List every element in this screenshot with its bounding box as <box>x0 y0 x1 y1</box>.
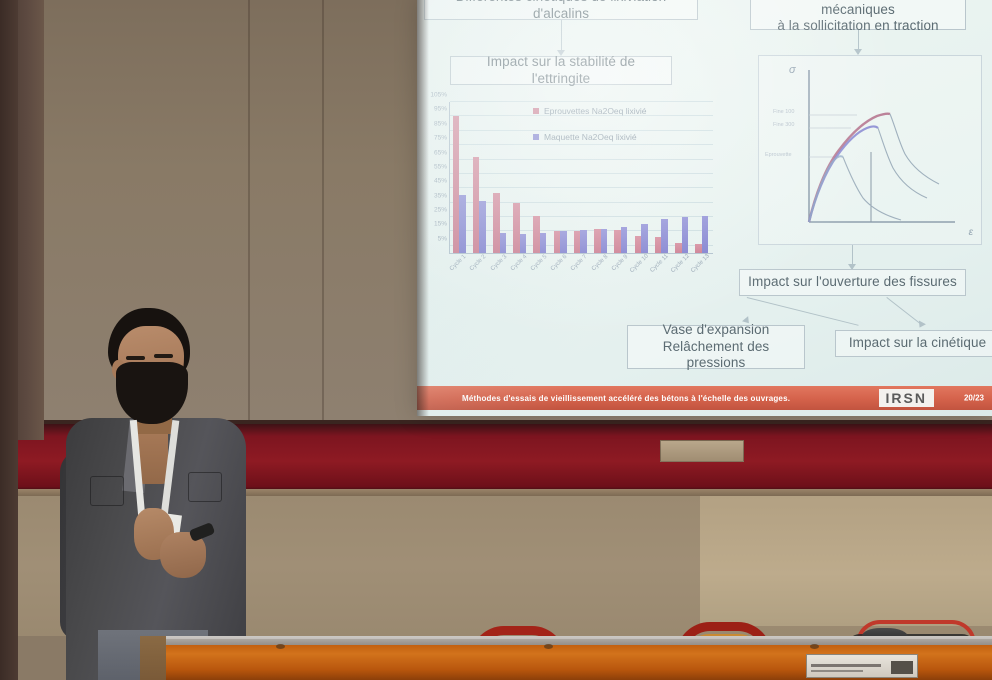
chart-x-tick-label: Cycle 8 <box>591 254 609 272</box>
wall-seam-2 <box>322 0 324 424</box>
desk-nameplate <box>806 654 918 678</box>
slide-box-ouverture-fissures: Impact sur l'ouverture des fissures <box>739 269 966 296</box>
desk-nameplate-logo <box>891 661 913 674</box>
slide-box-ettringite-label: Impact sur la stabilité de l'ettringite <box>458 54 664 88</box>
chart-y-tick-label: 95% <box>434 106 447 113</box>
slide-box-ettringite: Impact sur la stabilité de l'ettringite <box>450 56 672 85</box>
wall-panel <box>660 440 744 462</box>
chart-bar-maquette <box>621 227 628 253</box>
slide-footer-bar: Méthodes d'essais de vieillissement accé… <box>417 386 992 410</box>
legend-label-eprouvettes: Eprouvettes Na2Oeq lixivié <box>544 106 647 116</box>
desk-fixture-2 <box>544 644 553 649</box>
presenter-eyebrow-right <box>154 354 173 358</box>
chart-x-tick-label: Cycle 2 <box>469 254 487 272</box>
irsn-logo: IRSN <box>879 389 934 407</box>
presenter-shirt-pocket-right <box>188 472 222 502</box>
chart-y-tick-label: 55% <box>434 163 447 170</box>
connector-lixiviation-to-ettringite <box>561 20 562 54</box>
chart-x-tick-label: Cycle 9 <box>611 254 629 272</box>
chart-x-tick-label: Cycle 3 <box>490 254 508 272</box>
chart-x-tick-label: Cycle 13 <box>690 253 711 274</box>
stress-strain-curves <box>759 56 983 246</box>
connector-fissures-to-cinetique <box>886 297 920 324</box>
legend-item-maquette: Maquette Na2Oeq lixivié <box>533 132 647 142</box>
slide-box-vase-line1: Vase d'expansion <box>663 322 770 339</box>
chart-bar-group: Cycle 3 <box>493 102 508 253</box>
chart-x-tick-label: Cycle 11 <box>650 253 670 273</box>
chart-y-tick-label: 75% <box>434 135 447 142</box>
slide-box-mecanique-line1: Différentes réponses mécaniques <box>758 0 958 18</box>
chart-bar-group: Cycle 4 <box>513 102 528 253</box>
chart-bar-maquette <box>479 201 486 253</box>
chart-bar-maquette <box>560 231 567 253</box>
alkali-leaching-bar-chart: 105%95%85%75%65%55%45%35%25%15%5% Cycle … <box>423 98 717 288</box>
slide-box-mecanique-line2: à la sollicitation en traction <box>758 18 958 35</box>
chart-legend: Eprouvettes Na2Oeq lixivié Maquette Na2O… <box>533 106 647 158</box>
chart-y-tick-label: 5% <box>438 235 447 242</box>
presenter-eyebrow-left <box>126 356 145 360</box>
slide-page-number: 20/23 <box>964 394 984 403</box>
chart-x-tick-label: Cycle 10 <box>629 253 650 274</box>
legend-label-maquette: Maquette Na2Oeq lixivié <box>544 132 637 142</box>
chart-y-tick-label: 15% <box>434 221 447 228</box>
chart-bar-maquette <box>580 230 587 253</box>
chart-bar-maquette <box>601 229 608 253</box>
chart-y-tick-label: 85% <box>434 120 447 127</box>
slide-box-fissures-label: Impact sur l'ouverture des fissures <box>748 274 957 291</box>
chart-bar-maquette <box>682 217 689 253</box>
slide-footer-text: Méthodes d'essais de vieillissement accé… <box>462 394 790 403</box>
desk-side-cap <box>140 636 166 680</box>
chart-bar-maquette <box>500 233 507 253</box>
chart-bar-maquette <box>520 234 527 253</box>
chart-x-tick-label: Cycle 6 <box>550 254 568 272</box>
chart-x-tick-label: Cycle 4 <box>510 254 528 272</box>
chart-bar-maquette <box>459 195 466 253</box>
back-wall-lower-right <box>700 496 992 626</box>
chart-bar-group: Cycle 2 <box>473 102 488 253</box>
legend-item-eprouvettes: Eprouvettes Na2Oeq lixivié <box>533 106 647 116</box>
side-wall-edge <box>0 0 18 680</box>
legend-swatch-maquette <box>533 134 539 140</box>
chart-x-tick-label: Cycle 5 <box>530 254 548 272</box>
desk-edge-highlight <box>140 636 992 639</box>
projection-screen: Différentes cinétiques de lixiviation d'… <box>417 0 992 416</box>
chart-y-tick-label: 25% <box>434 207 447 214</box>
presenter-shirt-pocket-left <box>90 476 124 506</box>
chart-x-tick-label: Cycle 1 <box>449 254 467 272</box>
slide-box-lixiviation: Différentes cinétiques de lixiviation d'… <box>424 0 698 20</box>
chart-bar-group: Cycle 11 <box>655 102 670 253</box>
chart-y-tick-label: 45% <box>434 178 447 185</box>
slide-box-lixiviation-label: Différentes cinétiques de lixiviation d'… <box>432 0 690 23</box>
slide-box-cinetique-label: Impact sur la cinétique <box>849 335 986 352</box>
wall-seam-1 <box>248 0 250 424</box>
chart-x-tick-label: Cycle 7 <box>570 254 588 272</box>
chart-bar-group: Cycle 13 <box>695 102 710 253</box>
chart-bar-maquette <box>540 233 547 253</box>
chart-bar-maquette <box>702 216 709 253</box>
desk-fixture-3 <box>810 644 819 649</box>
chart-y-tick-label: 105% <box>430 92 447 99</box>
chart-y-tick-label: 65% <box>434 149 447 156</box>
desk-fixture-1 <box>276 644 285 649</box>
desk-nameplate-text-line-1 <box>811 664 881 667</box>
chart-bar-group: Cycle 1 <box>453 102 468 253</box>
chart-y-tick-label: 35% <box>434 192 447 199</box>
chart-x-tick-label: Cycle 12 <box>670 253 691 274</box>
desk-nameplate-text-line-2 <box>811 670 863 672</box>
chart-bar-maquette <box>661 219 668 254</box>
slide-box-reponses-mecaniques: Différentes réponses mécaniques à la sol… <box>750 0 966 30</box>
slide-box-vase-line2: Relâchement des pressions <box>635 339 797 373</box>
chart-bar-group: Cycle 12 <box>675 102 690 253</box>
stress-strain-diagram: σ ε Fine 100 Fine 300 Eprouvette <box>758 55 982 245</box>
presenter-beard <box>116 362 188 424</box>
slide-box-vase-expansion: Vase d'expansion Relâchement des pressio… <box>627 325 805 369</box>
slide-box-cinetique: Impact sur la cinétique <box>835 330 992 357</box>
chart-bar-maquette <box>641 224 648 253</box>
arrow-to-cinetique <box>916 320 926 329</box>
presenter-person <box>30 300 245 680</box>
legend-swatch-eprouvettes <box>533 108 539 114</box>
